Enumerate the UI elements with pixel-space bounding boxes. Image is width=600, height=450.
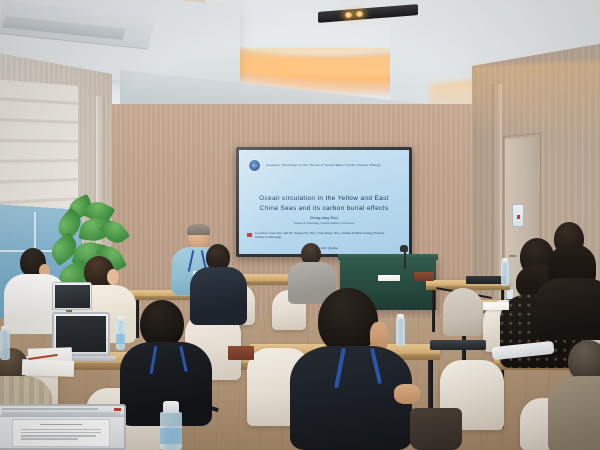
water-bottle-label: [116, 334, 125, 344]
smoke-detector-icon: [138, 92, 143, 96]
paper-handout[interactable]: [483, 302, 509, 310]
ribbon-icon-row: [2, 412, 120, 416]
closed-laptop[interactable]: [430, 340, 486, 350]
document-text-line: [21, 432, 102, 433]
water-bottle-cap: [117, 316, 124, 321]
backpack[interactable]: [410, 408, 462, 450]
door-handle[interactable]: [509, 255, 516, 257]
water-bottle-cap: [502, 258, 508, 263]
presenter-hair: [187, 224, 210, 235]
table-leg: [428, 360, 433, 415]
torso: [548, 376, 600, 450]
hand: [394, 384, 420, 404]
slide-affiliation-line-2: Institute of Oceanology: [255, 236, 397, 240]
head: [140, 300, 184, 348]
water-bottle-cap: [397, 314, 404, 319]
torso: [536, 278, 600, 340]
paper-handout[interactable]: [378, 275, 400, 281]
document-ribbon-toolbar[interactable]: [0, 406, 124, 417]
head: [318, 288, 378, 354]
face: [107, 269, 119, 285]
slide-title: Ocean circulation in the Yellow and East…: [239, 194, 409, 213]
closed-laptop[interactable]: [466, 276, 506, 284]
slide-author-block: Zhong-Liang Zhuo Institute of Oceanology…: [239, 216, 409, 226]
ribbon-red-badge: [114, 408, 121, 411]
document-page: [12, 419, 110, 447]
track-light-bulb: [356, 11, 363, 17]
table-leg: [136, 300, 139, 338]
table-leg: [432, 290, 435, 332]
notebook[interactable]: [228, 346, 254, 360]
slide-title-line-2: China Seas and its carbon burial effects: [239, 204, 409, 214]
laptop-screen-document[interactable]: [0, 404, 126, 450]
slide-title-line-1: Ocean circulation in the Yellow and East: [239, 194, 409, 204]
chair[interactable]: [443, 288, 483, 336]
document-heading-line: [40, 424, 82, 425]
water-bottle-cap: [163, 401, 179, 413]
water-bottle[interactable]: [501, 262, 509, 286]
institution-logo-icon: IO: [248, 159, 261, 172]
presentation-display[interactable]: IO Academic Workshop on the Theme of Oce…: [236, 147, 412, 257]
laptop-screen[interactable]: [52, 282, 92, 310]
conference-room-photo: IO Academic Workshop on the Theme of Oce…: [0, 0, 600, 450]
laptop-display-dark: [55, 285, 90, 308]
document-text-line: [21, 438, 79, 439]
paper-handout[interactable]: [22, 359, 75, 377]
water-bottle-cap: [1, 326, 9, 331]
slide-flag-icon: [247, 233, 252, 237]
logo-text: IO: [253, 163, 257, 168]
water-bottle[interactable]: [396, 318, 405, 346]
track-light-bulb: [345, 12, 352, 18]
door-sign-red-mark: [517, 215, 520, 219]
microphone-stand: [404, 249, 406, 269]
document-text-line: [21, 435, 96, 436]
notebook[interactable]: [414, 272, 434, 281]
slide-date: June 20, 2023, Qingdao: [239, 247, 409, 250]
ribbon-tab-row: [2, 408, 98, 410]
slide-canvas: IO Academic Workshop on the Theme of Oce…: [239, 150, 409, 254]
torso: [190, 267, 247, 325]
slide-affiliation-block: Co-authors: Xuan Chen, Wei Wu, Jiangjun …: [255, 232, 397, 240]
slide-header-text: Academic Workshop on the Theme of Ocean …: [266, 163, 401, 167]
document-text-line: [21, 429, 102, 430]
water-bottle[interactable]: [0, 330, 10, 360]
water-bottle-label: [160, 428, 182, 444]
slide-author-affiliation: Institute of Oceanology, Chinese Academy…: [239, 221, 409, 226]
microphone-icon[interactable]: [400, 245, 408, 252]
